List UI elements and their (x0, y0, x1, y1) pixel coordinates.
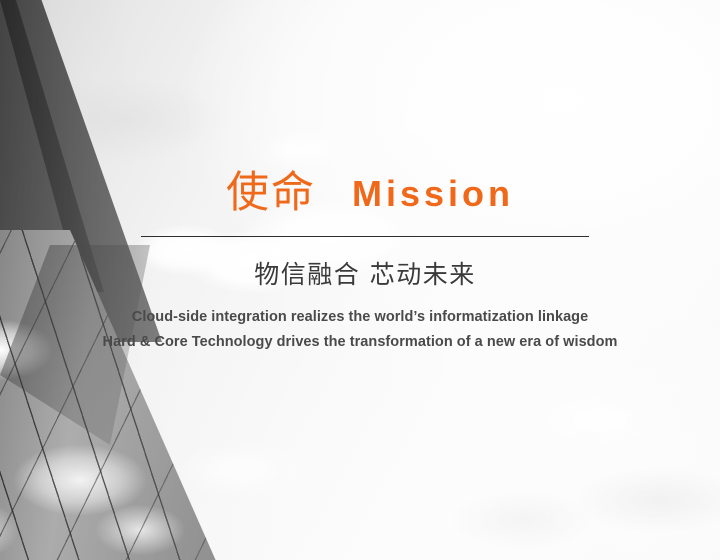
hero-description: Cloud-side integration realizes the worl… (0, 305, 720, 355)
hero-description-line-1: Cloud-side integration realizes the worl… (0, 305, 720, 330)
hero-subtitle-chinese: 物信融合 芯动未来 (0, 258, 720, 292)
hero-title-row: 使命Mission (0, 172, 720, 215)
hero-content: 使命Mission 物信融合 芯动未来 Cloud-side integrati… (0, 0, 720, 560)
hero-divider-rule (141, 236, 589, 237)
hero-title-english: Mission (352, 173, 514, 214)
hero-description-line-2: Hard & Core Technology drives the transf… (0, 330, 720, 355)
hero-title-chinese: 使命 (226, 168, 316, 218)
mission-banner: 使命Mission 物信融合 芯动未来 Cloud-side integrati… (0, 0, 720, 560)
